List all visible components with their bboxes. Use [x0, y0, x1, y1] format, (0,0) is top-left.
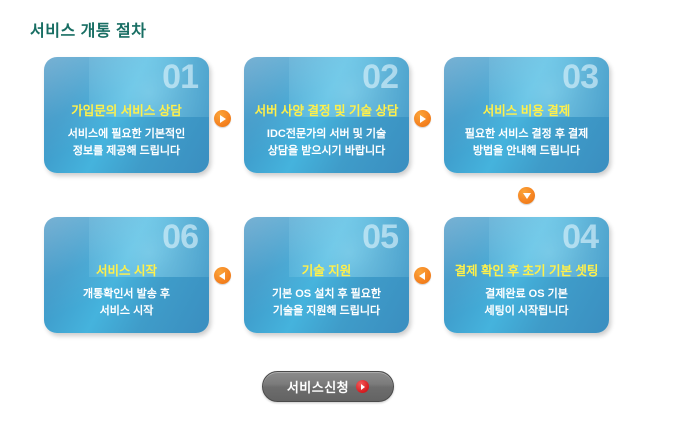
step-title: 서버 사양 결정 및 기술 상담	[244, 100, 409, 119]
step-description-line-2: 상담을 받으시기 바랍니다	[244, 143, 409, 160]
step-title: 서비스 비용 결제	[444, 100, 609, 119]
arrow-right-circle-icon	[356, 380, 369, 393]
apply-service-button[interactable]: 서비스신청	[262, 371, 394, 402]
arrow-down-icon	[518, 187, 535, 204]
step-number: 02	[362, 59, 398, 96]
step-card-05[interactable]: 05 기술 지원 기본 OS 설치 후 필요한 기술을 지원해 드립니다	[244, 217, 409, 333]
step-card-02[interactable]: 02 서버 사양 결정 및 기술 상담 IDC전문가의 서버 및 기술 상담을 …	[244, 57, 409, 173]
step-title: 가입문의 서비스 상담	[44, 100, 209, 119]
step-description-line-1: IDC전문가의 서버 및 기술	[244, 126, 409, 143]
arrow-left-icon	[414, 267, 431, 284]
step-description: IDC전문가의 서버 및 기술 상담을 받으시기 바랍니다	[244, 126, 409, 160]
step-title: 서비스 시작	[44, 260, 209, 279]
step-number: 03	[562, 59, 598, 96]
step-number: 06	[162, 219, 198, 256]
step-card-04[interactable]: 04 결제 확인 후 초기 기본 셋팅 결제완료 OS 기본 세팅이 시작됩니다	[444, 217, 609, 333]
step-description-line-2: 서비스 시작	[44, 303, 209, 320]
step-description-line-1: 필요한 서비스 결정 후 결제	[444, 126, 609, 143]
step-card-01[interactable]: 01 가입문의 서비스 상담 서비스에 필요한 기본적인 정보를 제공해 드립니…	[44, 57, 209, 173]
apply-service-button-label: 서비스신청	[287, 377, 349, 396]
step-description: 결제완료 OS 기본 세팅이 시작됩니다	[444, 286, 609, 320]
step-number: 04	[562, 219, 598, 256]
step-description: 서비스에 필요한 기본적인 정보를 제공해 드립니다	[44, 126, 209, 160]
step-description-line-2: 세팅이 시작됩니다	[444, 303, 609, 320]
arrow-right-icon	[414, 110, 431, 127]
step-number: 05	[362, 219, 398, 256]
step-description-line-1: 개통확인서 발송 후	[44, 286, 209, 303]
step-description-line-2: 기술을 지원해 드립니다	[244, 303, 409, 320]
step-title: 기술 지원	[244, 260, 409, 279]
step-description: 개통확인서 발송 후 서비스 시작	[44, 286, 209, 320]
step-description-line-1: 기본 OS 설치 후 필요한	[244, 286, 409, 303]
step-number: 01	[162, 59, 198, 96]
arrow-right-icon	[214, 110, 231, 127]
step-description-line-1: 서비스에 필요한 기본적인	[44, 126, 209, 143]
step-description-line-2: 방법을 안내해 드립니다	[444, 143, 609, 160]
step-title: 결제 확인 후 초기 기본 셋팅	[444, 260, 609, 279]
step-card-03[interactable]: 03 서비스 비용 결제 필요한 서비스 결정 후 결제 방법을 안내해 드립니…	[444, 57, 609, 173]
step-description: 기본 OS 설치 후 필요한 기술을 지원해 드립니다	[244, 286, 409, 320]
step-card-06[interactable]: 06 서비스 시작 개통확인서 발송 후 서비스 시작	[44, 217, 209, 333]
step-description: 필요한 서비스 결정 후 결제 방법을 안내해 드립니다	[444, 126, 609, 160]
step-description-line-1: 결제완료 OS 기본	[444, 286, 609, 303]
arrow-left-icon	[214, 267, 231, 284]
step-description-line-2: 정보를 제공해 드립니다	[44, 143, 209, 160]
